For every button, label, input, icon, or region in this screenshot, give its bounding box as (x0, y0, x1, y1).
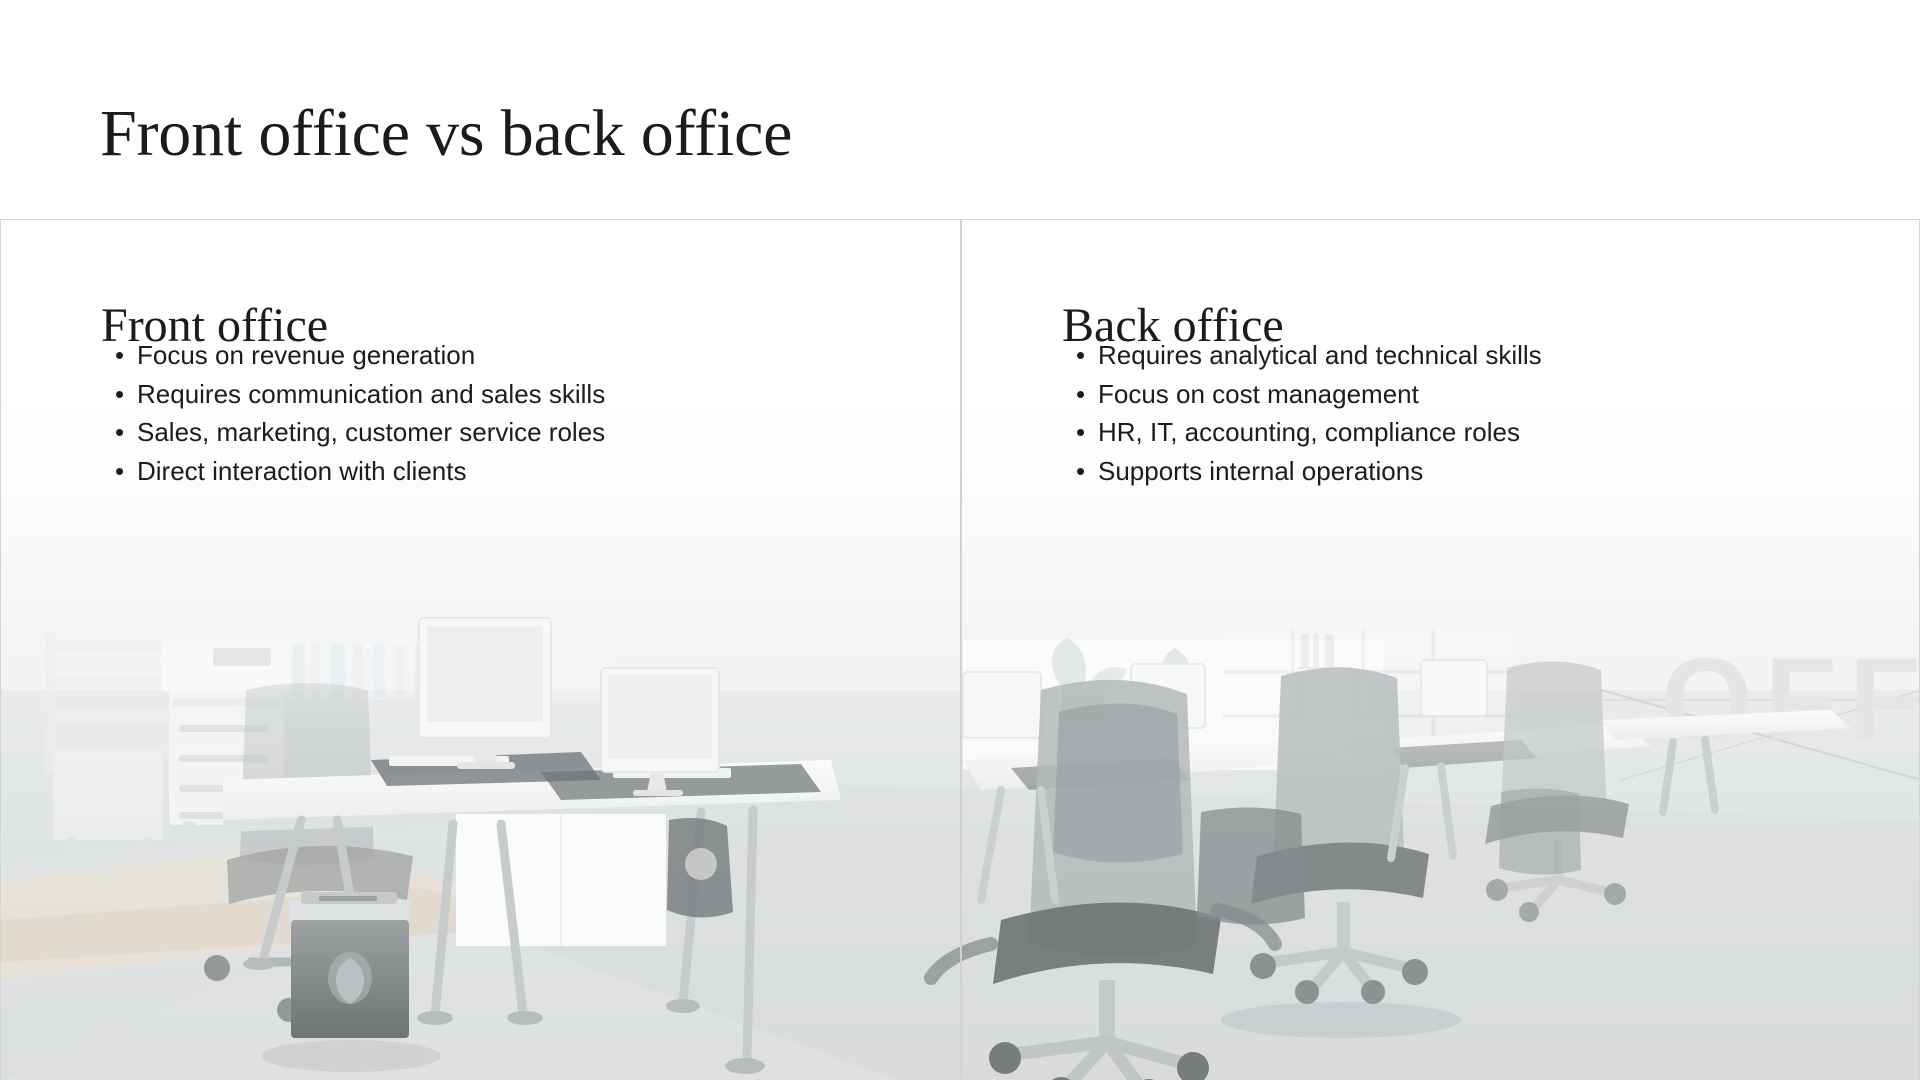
bullet-marker-icon: • (1076, 452, 1085, 491)
list-item-label: Focus on revenue generation (137, 340, 475, 370)
list-item: •HR, IT, accounting, compliance roles (1098, 413, 1898, 452)
list-item: •Requires analytical and technical skill… (1098, 336, 1898, 375)
bullet-marker-icon: • (1076, 375, 1085, 414)
list-item: •Supports internal operations (1098, 452, 1898, 491)
list-item-label: Requires communication and sales skills (137, 379, 605, 409)
bullet-marker-icon: • (115, 375, 124, 414)
list-item-label: HR, IT, accounting, compliance roles (1098, 417, 1520, 447)
content-panel: OFFIC (0, 219, 1920, 1080)
list-item: •Focus on cost management (1098, 375, 1898, 414)
list-item-label: Supports internal operations (1098, 456, 1423, 486)
bullet-marker-icon: • (1076, 336, 1085, 375)
list-item-label: Focus on cost management (1098, 379, 1419, 409)
list-item-label: Requires analytical and technical skills (1098, 340, 1542, 370)
column-front-office: Front office •Focus on revenue generatio… (1, 220, 960, 1080)
bullet-marker-icon: • (115, 413, 124, 452)
bullet-marker-icon: • (115, 336, 124, 375)
list-item: •Requires communication and sales skills (137, 375, 917, 414)
slide: Front office vs back office (0, 0, 1920, 1080)
list-item: •Sales, marketing, customer service role… (137, 413, 917, 452)
bullet-list-back-office: •Requires analytical and technical skill… (1062, 336, 1898, 490)
list-item-label: Sales, marketing, customer service roles (137, 417, 605, 447)
list-item: •Direct interaction with clients (137, 452, 917, 491)
bullet-list-front-office: •Focus on revenue generation •Requires c… (101, 336, 917, 490)
list-item-label: Direct interaction with clients (137, 456, 466, 486)
column-back-office: Back office •Requires analytical and tec… (962, 220, 1920, 1080)
bullet-marker-icon: • (115, 452, 124, 491)
list-item: •Focus on revenue generation (137, 336, 917, 375)
comparison-columns: Front office •Focus on revenue generatio… (1, 220, 1920, 1080)
page-title: Front office vs back office (100, 96, 792, 172)
bullet-marker-icon: • (1076, 413, 1085, 452)
